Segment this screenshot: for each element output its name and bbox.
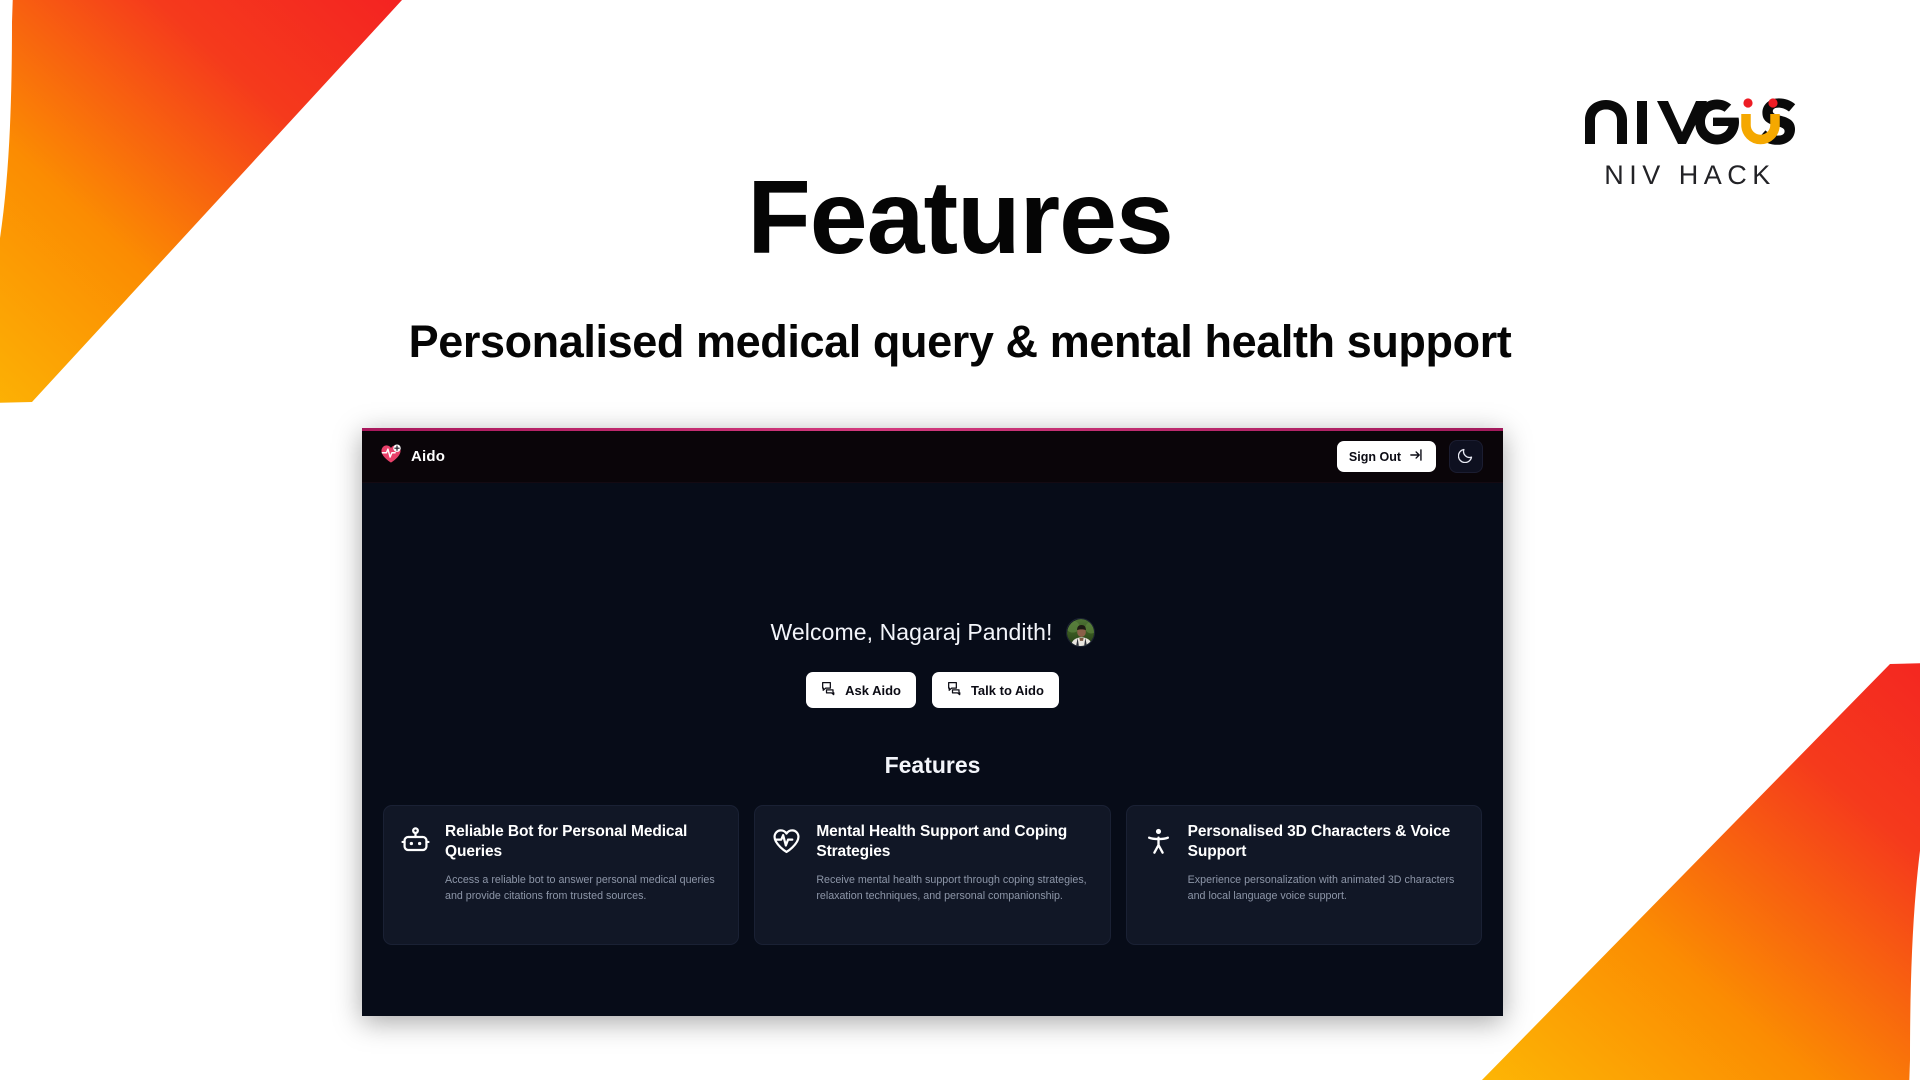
ask-aido-button[interactable]: Ask Aido bbox=[806, 672, 916, 708]
welcome-greeting: Welcome, Nagaraj Pandith! bbox=[770, 619, 1052, 646]
cta-row: Ask Aido Talk to Aido bbox=[362, 672, 1503, 708]
checkmark-ribbon-decoration-icon bbox=[1480, 640, 1920, 1080]
feature-text: Personalised 3D Characters & Voice Suppo… bbox=[1188, 822, 1464, 905]
welcome-row: Welcome, Nagaraj Pandith! bbox=[362, 483, 1503, 647]
user-avatar-photo[interactable] bbox=[1066, 618, 1095, 647]
feature-text: Mental Health Support and Coping Strateg… bbox=[816, 822, 1092, 905]
app-header: Aido Sign Out bbox=[362, 431, 1503, 483]
sign-out-label: Sign Out bbox=[1349, 450, 1401, 464]
sign-out-button[interactable]: Sign Out bbox=[1337, 441, 1436, 472]
moon-icon bbox=[1458, 447, 1474, 466]
theme-toggle-button[interactable] bbox=[1449, 440, 1483, 473]
page-subtitle: Personalised medical query & mental heal… bbox=[0, 316, 1920, 368]
features-section-heading: Features bbox=[362, 752, 1503, 779]
slide-canvas: NIV HACK Features Personalised medical q… bbox=[0, 0, 1920, 1080]
accessibility-person-icon bbox=[1144, 822, 1173, 861]
header-actions: Sign Out bbox=[1337, 440, 1483, 473]
talk-to-aido-button[interactable]: Talk to Aido bbox=[932, 672, 1059, 708]
feature-text: Reliable Bot for Personal Medical Querie… bbox=[445, 822, 721, 905]
feature-card[interactable]: Mental Health Support and Coping Strateg… bbox=[754, 805, 1110, 945]
messages-square-icon bbox=[947, 681, 962, 699]
heart-pulse-plus-icon bbox=[380, 444, 402, 469]
app-brand[interactable]: Aido bbox=[380, 444, 445, 469]
app-body: Welcome, Nagaraj Pandith! bbox=[362, 483, 1503, 1016]
app-window: Aido Sign Out bbox=[362, 428, 1503, 1016]
heart-pulse-icon bbox=[772, 822, 801, 861]
feature-title: Personalised 3D Characters & Voice Suppo… bbox=[1188, 823, 1451, 860]
feature-grid: Reliable Bot for Personal Medical Querie… bbox=[362, 805, 1503, 945]
feature-card[interactable]: Reliable Bot for Personal Medical Querie… bbox=[383, 805, 739, 945]
app-name: Aido bbox=[411, 448, 445, 465]
messages-square-icon bbox=[821, 681, 836, 699]
feature-title: Reliable Bot for Personal Medical Querie… bbox=[445, 823, 687, 860]
feature-description: Experience personalization with animated… bbox=[1188, 872, 1464, 905]
niveus-logo-icon bbox=[1560, 90, 1820, 148]
feature-description: Receive mental health support through co… bbox=[816, 872, 1092, 905]
bot-icon bbox=[401, 822, 430, 861]
feature-title: Mental Health Support and Coping Strateg… bbox=[816, 823, 1067, 860]
page-title: Features bbox=[0, 166, 1920, 270]
feature-description: Access a reliable bot to answer personal… bbox=[445, 872, 721, 905]
logout-arrow-icon bbox=[1410, 448, 1424, 465]
feature-card[interactable]: Personalised 3D Characters & Voice Suppo… bbox=[1126, 805, 1482, 945]
ask-aido-label: Ask Aido bbox=[845, 683, 901, 698]
talk-to-aido-label: Talk to Aido bbox=[971, 683, 1044, 698]
